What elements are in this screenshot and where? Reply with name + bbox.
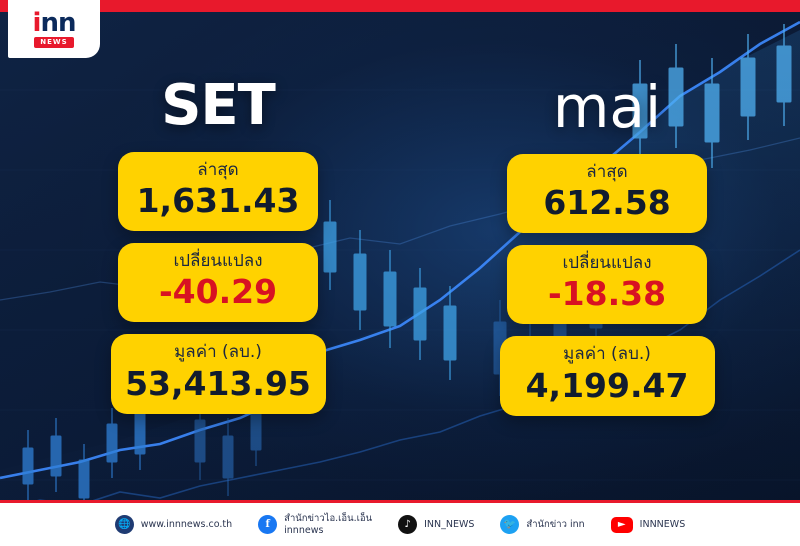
index-columns: SET ล่าสุด 1,631.43 เปลี่ยนแปลง -40.29 ม… xyxy=(0,78,800,428)
card-mai-change: เปลี่ยนแปลง -18.38 xyxy=(507,245,707,324)
logo-sub-badge: NEWS xyxy=(34,37,73,48)
card-set-change: เปลี่ยนแปลง -40.29 xyxy=(118,243,318,322)
footer-label: สำนักข่าวไอ.เอ็น.เอ็น innnews xyxy=(284,513,372,537)
footer-item-youtube[interactable]: ► INNNEWS xyxy=(611,517,686,533)
footer-label: INN_NEWS xyxy=(424,519,474,531)
column-set: SET ล่าสุด 1,631.43 เปลี่ยนแปลง -40.29 ม… xyxy=(0,78,400,428)
footer-item-tiktok[interactable]: ♪ INN_NEWS xyxy=(398,515,474,534)
card-value: 53,413.95 xyxy=(121,365,316,403)
footer-label: www.innnews.co.th xyxy=(141,519,232,531)
card-set-value: มูลค่า (ลบ.) 53,413.95 xyxy=(111,334,326,413)
tiktok-icon: ♪ xyxy=(398,515,417,534)
logo-wordmark: inn xyxy=(33,10,76,36)
card-label: ล่าสุด xyxy=(517,162,697,183)
card-label: ล่าสุด xyxy=(128,160,308,181)
card-set-latest: ล่าสุด 1,631.43 xyxy=(118,152,318,231)
footer-label: INNNEWS xyxy=(640,519,686,531)
card-label: มูลค่า (ลบ.) xyxy=(510,344,705,365)
facebook-icon: f xyxy=(258,515,277,534)
card-label: มูลค่า (ลบ.) xyxy=(121,342,316,363)
card-label: เปลี่ยนแปลง xyxy=(517,253,697,274)
card-mai-latest: ล่าสุด 612.58 xyxy=(507,154,707,233)
card-value: -40.29 xyxy=(128,273,308,311)
index-name-set: SET xyxy=(161,78,275,134)
footer-item-website[interactable]: 🌐 www.innnews.co.th xyxy=(115,515,232,534)
globe-icon: 🌐 xyxy=(115,515,134,534)
top-red-bar xyxy=(0,0,800,12)
footer-label: สำนักข่าว inn xyxy=(526,519,584,531)
twitter-icon: 🐦 xyxy=(500,515,519,534)
infographic-canvas: inn NEWS SET ล่าสุด 1,631.43 เปลี่ยนแปลง… xyxy=(0,0,800,546)
card-value: 612.58 xyxy=(517,184,697,222)
card-mai-value: มูลค่า (ลบ.) 4,199.47 xyxy=(500,336,715,415)
footer-social-bar: 🌐 www.innnews.co.th f สำนักข่าวไอ.เอ็น.เ… xyxy=(0,500,800,546)
card-value: -18.38 xyxy=(517,275,697,313)
footer-item-twitter[interactable]: 🐦 สำนักข่าว inn xyxy=(500,515,584,534)
inn-logo: inn NEWS xyxy=(8,0,100,58)
card-label: เปลี่ยนแปลง xyxy=(128,251,308,272)
card-value: 1,631.43 xyxy=(128,182,308,220)
index-name-mai: mai xyxy=(553,78,661,136)
youtube-icon: ► xyxy=(611,517,633,533)
column-mai: mai ล่าสุด 612.58 เปลี่ยนแปลง -18.38 มูล… xyxy=(400,78,800,428)
card-value: 4,199.47 xyxy=(510,367,705,405)
footer-item-facebook[interactable]: f สำนักข่าวไอ.เอ็น.เอ็น innnews xyxy=(258,513,372,537)
